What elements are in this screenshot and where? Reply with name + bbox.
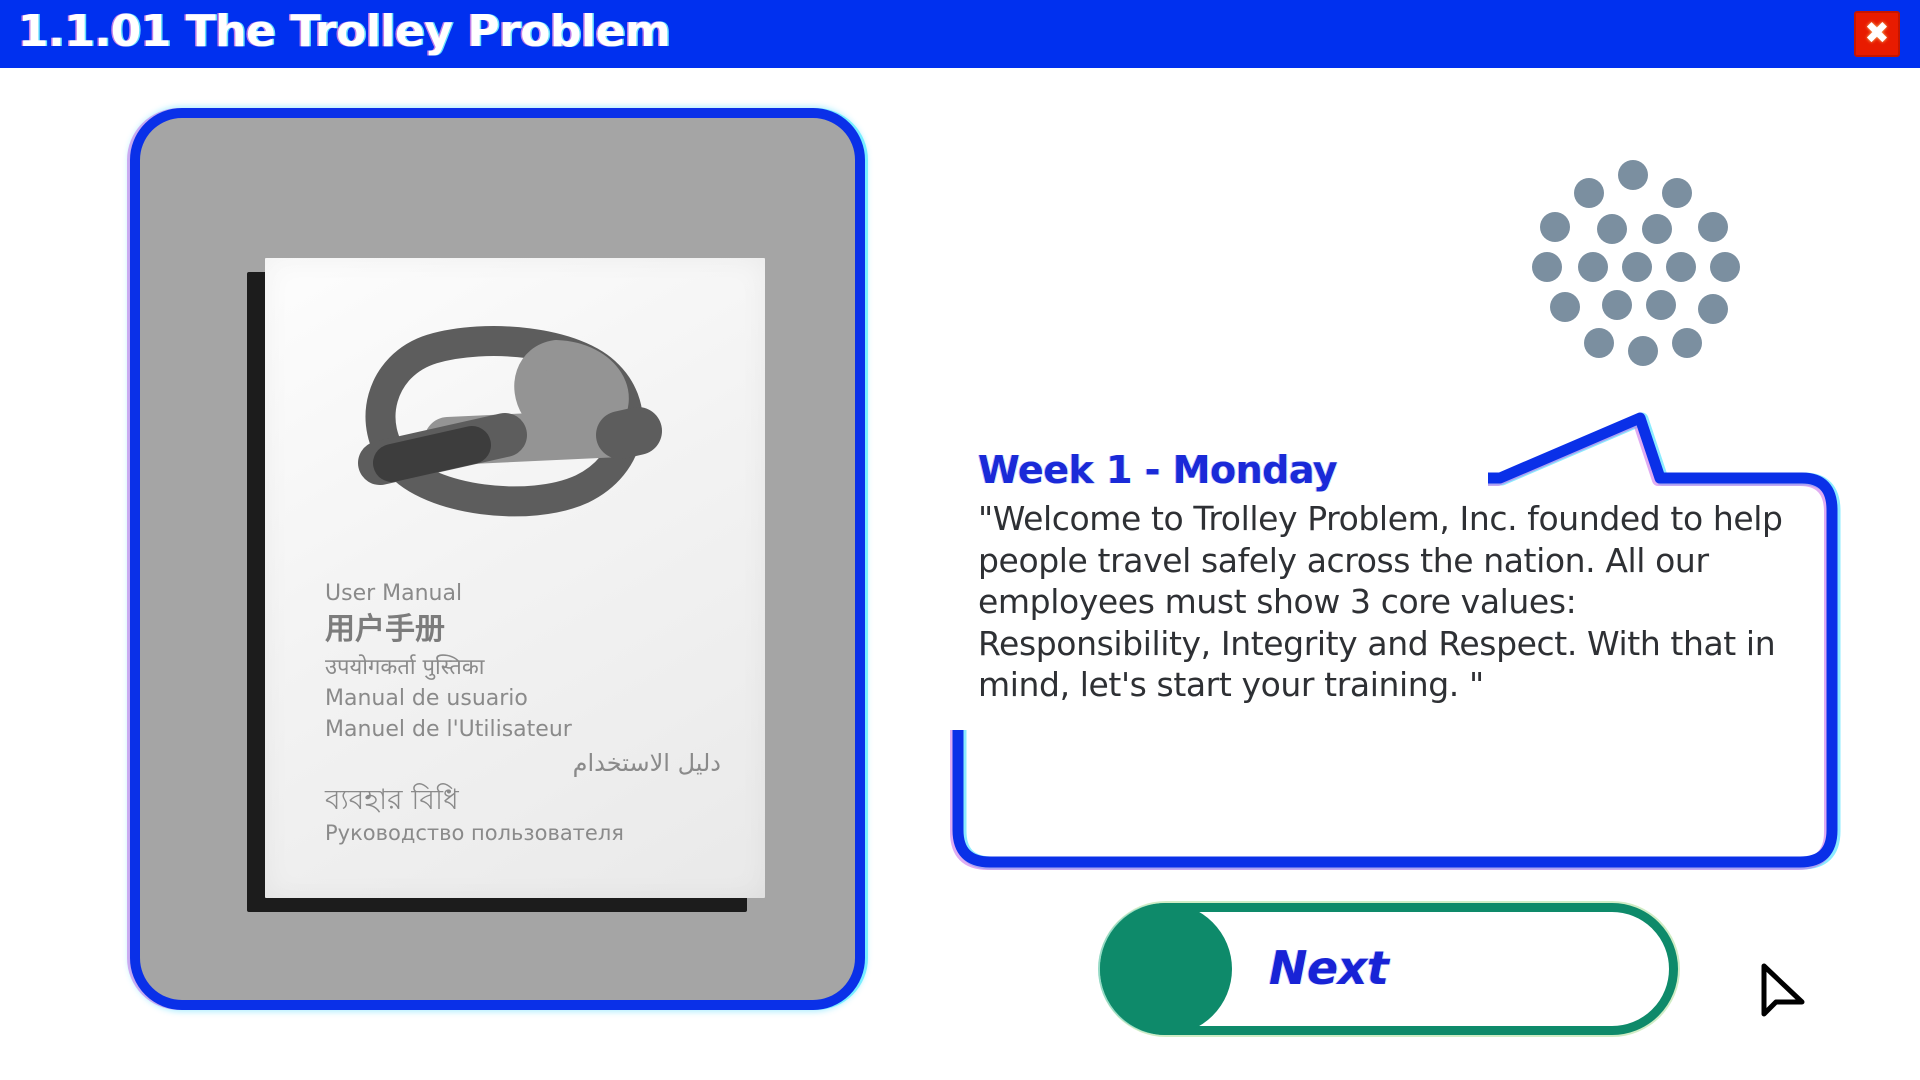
close-icon: ✖ [1856,13,1898,55]
decorative-dot [1710,252,1740,282]
decorative-dot [1662,178,1692,208]
manual-lang-fr: Manuel de l'Utilisateur [325,714,745,745]
dialogue-text-block: Week 1 - Monday "Welcome to Trolley Prob… [978,448,1808,706]
trolley-abstract-logo-icon [320,313,700,543]
decorative-dot [1642,214,1672,244]
window-titlebar: 1.1.01 The Trolley Problem ✖ [0,0,1920,68]
manual-lang-ar: دليل الاستخدام [325,746,745,780]
dialogue-heading: Week 1 - Monday [978,448,1808,492]
decorative-dot [1618,160,1648,190]
dot-cluster-decoration [1540,160,1755,365]
decorative-dot [1550,292,1580,322]
decorative-dot [1666,252,1696,282]
manual-lang-zh: 用户手册 [325,609,745,652]
next-button[interactable]: Next [1100,903,1678,1035]
decorative-dot [1597,214,1627,244]
decorative-dot [1628,336,1658,366]
manual-language-list: User Manual 用户手册 उपयोगकर्ता पुस्तिका Man… [325,578,745,849]
decorative-dot [1672,328,1702,358]
manual-lang-en: User Manual [325,578,745,609]
book-cover: User Manual 用户手册 उपयोगकर्ता पुस्तिका Man… [265,258,765,898]
decorative-dot [1578,252,1608,282]
decorative-dot [1574,178,1604,208]
manual-display-panel: User Manual 用户手册 उपयोगकर्ता पुस्तिका Man… [130,108,865,1010]
decorative-dot [1622,252,1652,282]
user-manual-book[interactable]: User Manual 用户手册 उपयोगकर्ता पुस्तिका Man… [265,258,765,898]
decorative-dot [1540,212,1570,242]
manual-lang-hi: उपयोगकर्ता पुस्तिका [325,652,745,683]
decorative-dot [1532,252,1562,282]
decorative-dot [1646,290,1676,320]
manual-lang-ru: Руководство пользователя [325,819,745,849]
page-title: 1.1.01 The Trolley Problem [18,6,670,57]
dialogue-body-text: "Welcome to Trolley Problem, Inc. founde… [978,498,1808,706]
close-window-button[interactable]: ✖ [1854,11,1900,57]
manual-lang-bn: ব্যবহার বিধি [325,780,745,820]
next-button-knob [1100,903,1232,1035]
decorative-dot [1698,212,1728,242]
decorative-dot [1698,294,1728,324]
manual-lang-es: Manual de usuario [325,683,745,714]
mouse-pointer-cursor [1758,962,1808,1024]
decorative-dot [1584,328,1614,358]
decorative-dot [1602,290,1632,320]
next-button-label: Next [1269,941,1388,995]
